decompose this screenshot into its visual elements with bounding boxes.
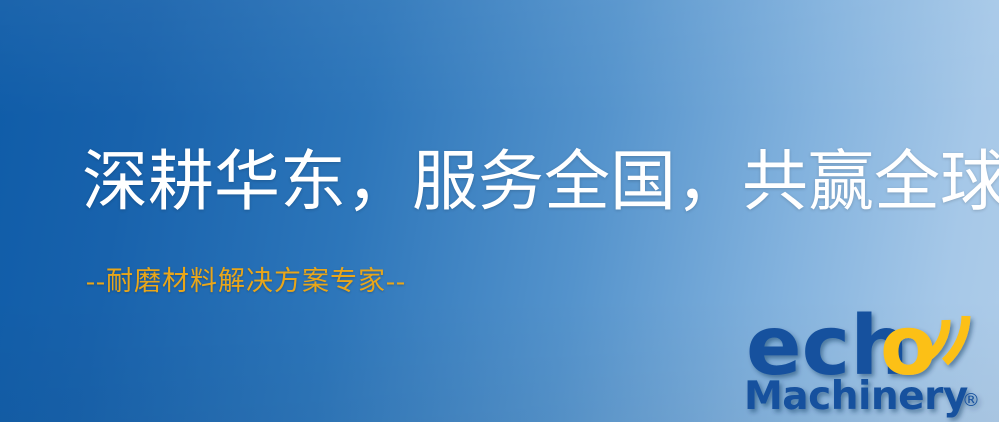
logo-registered-mark: ® [962, 390, 980, 411]
hero-banner: 深耕华东，服务全国，共赢全球 --耐磨材料解决方案专家-- [0, 0, 999, 422]
company-logo[interactable]: ech o Machinery ® [740, 296, 999, 422]
logo-tagline: Machinery [744, 374, 968, 419]
page-subtitle: --耐磨材料解决方案专家-- [86, 268, 406, 295]
page-title: 深耕华东，服务全国，共赢全球 [82, 150, 999, 216]
